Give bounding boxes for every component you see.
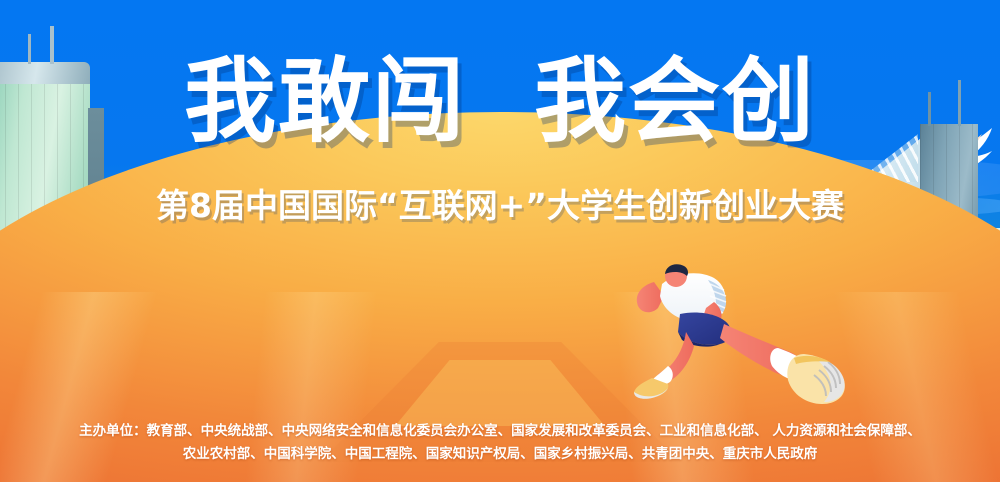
runner-illustration — [628, 262, 868, 407]
organizers-line-1: 主办单位：教育部、中央统战部、中央网络安全和信息化委员会办公室、国家发展和改革委… — [0, 420, 1000, 443]
organizers-block: 主办单位：教育部、中央统战部、中央网络安全和信息化委员会办公室、国家发展和改革委… — [0, 420, 1000, 466]
poster-subtitle: 第8届中国国际“互联网+”大学生创新创业大赛 — [0, 186, 1000, 226]
event-poster: 我敢闯 我会创 第8届中国国际“互联网+”大学生创新创业大赛 主办单位：教育部、… — [0, 0, 1000, 482]
organizers-line-2: 农业农村部、中国科学院、中国工程院、国家知识产权局、国家乡村振兴局、共青团中央、… — [0, 443, 1000, 466]
poster-title: 我敢闯 我会创 — [0, 56, 1000, 148]
